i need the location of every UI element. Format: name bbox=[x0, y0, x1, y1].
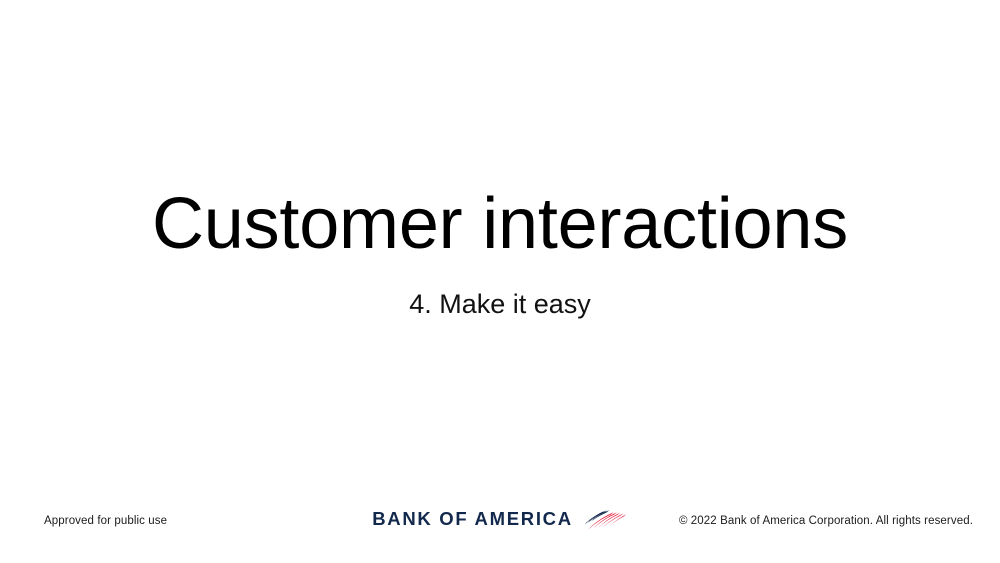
bank-of-america-wordmark: BANK OF AMERICA bbox=[372, 510, 573, 529]
title-block: Customer interactions 4. Make it easy bbox=[0, 188, 1000, 318]
page-title: Customer interactions bbox=[0, 188, 1000, 260]
bank-of-america-logo: BANK OF AMERICA bbox=[372, 507, 628, 532]
slide-footer: Approved for public use BANK OF AMERICA bbox=[0, 503, 1000, 563]
slide-canvas: Customer interactions 4. Make it easy Ap… bbox=[0, 0, 1000, 563]
slide-subtitle: 4. Make it easy bbox=[0, 260, 1000, 318]
flagscape-emblem-icon bbox=[582, 507, 628, 532]
copyright-notice: © 2022 Bank of America Corporation. All … bbox=[679, 515, 973, 527]
approved-for-public-use-note: Approved for public use bbox=[44, 515, 167, 527]
